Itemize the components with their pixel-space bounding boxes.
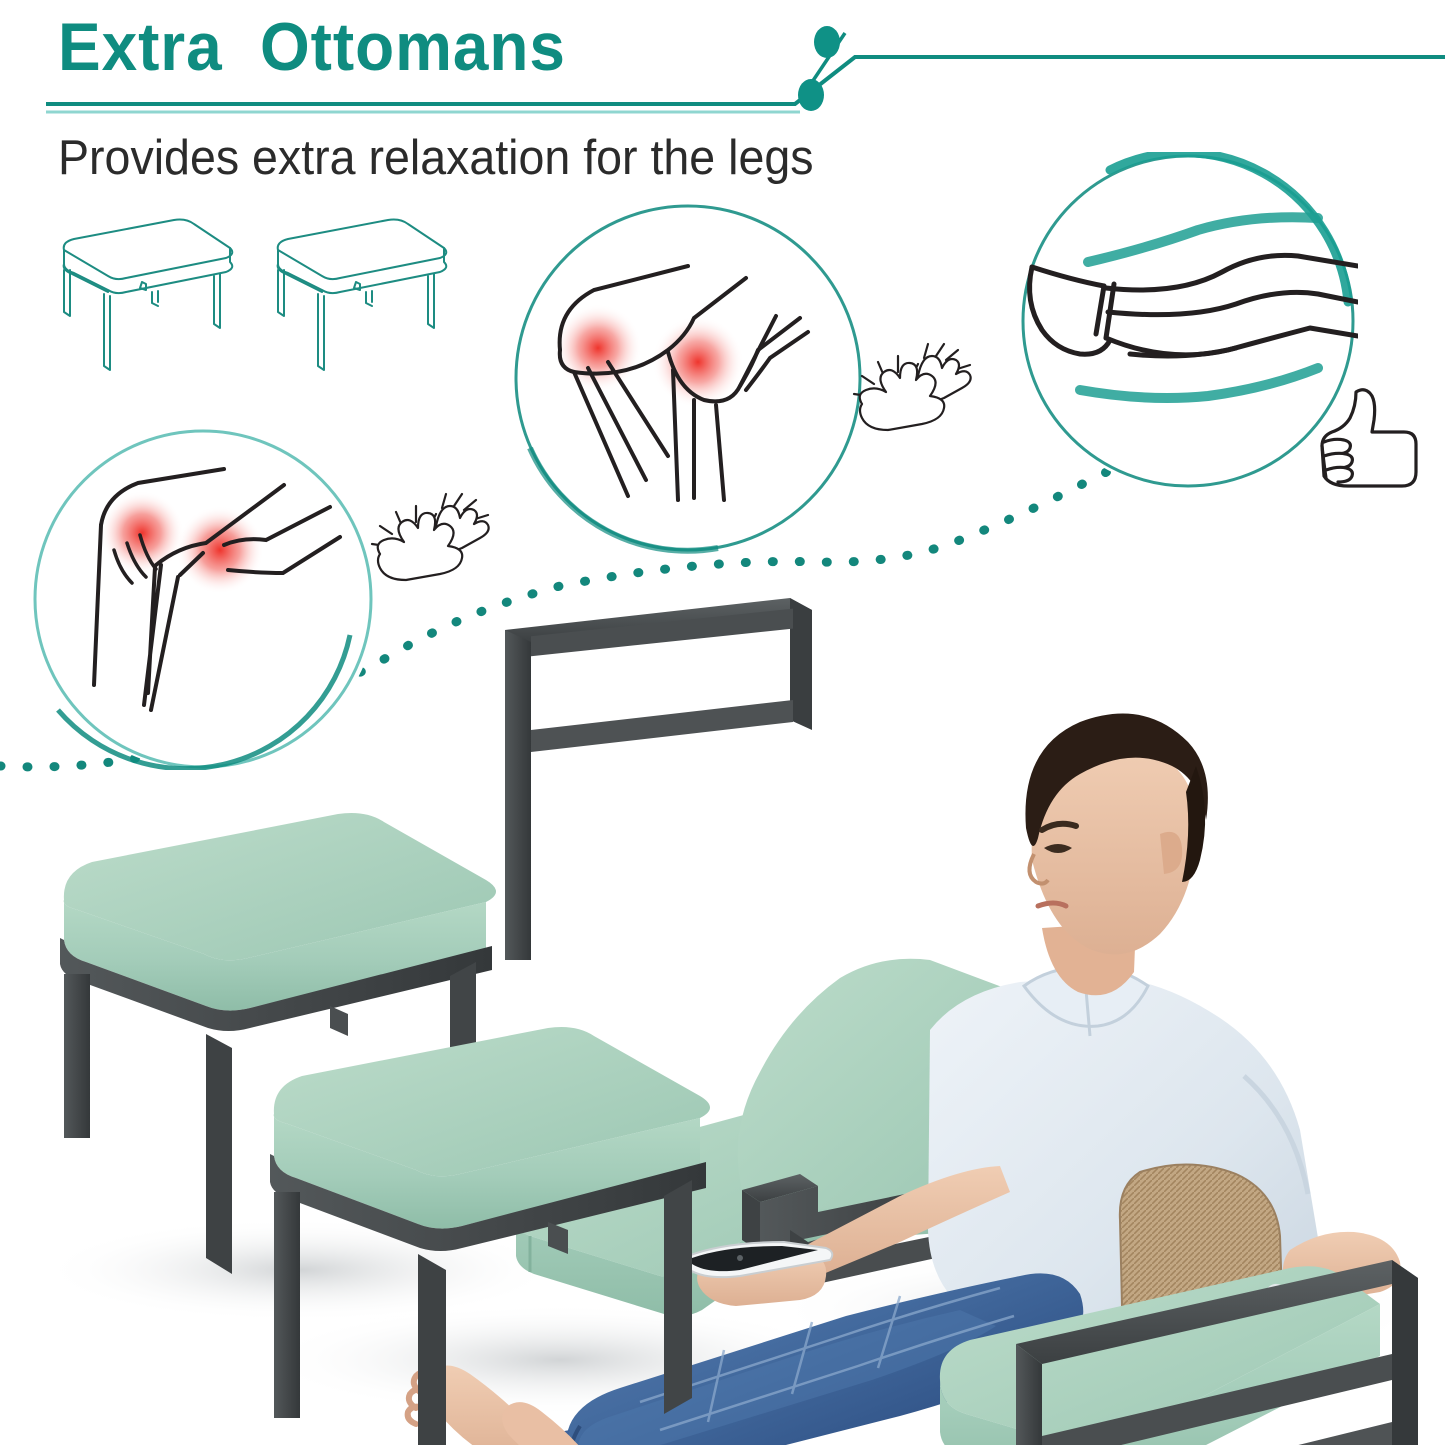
deco-dot-lower (798, 79, 824, 111)
product-photo-man-on-sofa-with-ottomans (0, 430, 1445, 1445)
page-subtitle: Provides extra relaxation for the legs (58, 130, 814, 186)
pain-glow (652, 316, 744, 408)
title-underline-decoration (0, 0, 1445, 130)
deco-dot-upper (814, 26, 840, 58)
sofa-frame-back (505, 598, 812, 960)
infographic-canvas: Extra Ottomans Provides extra relaxation… (0, 0, 1445, 1445)
